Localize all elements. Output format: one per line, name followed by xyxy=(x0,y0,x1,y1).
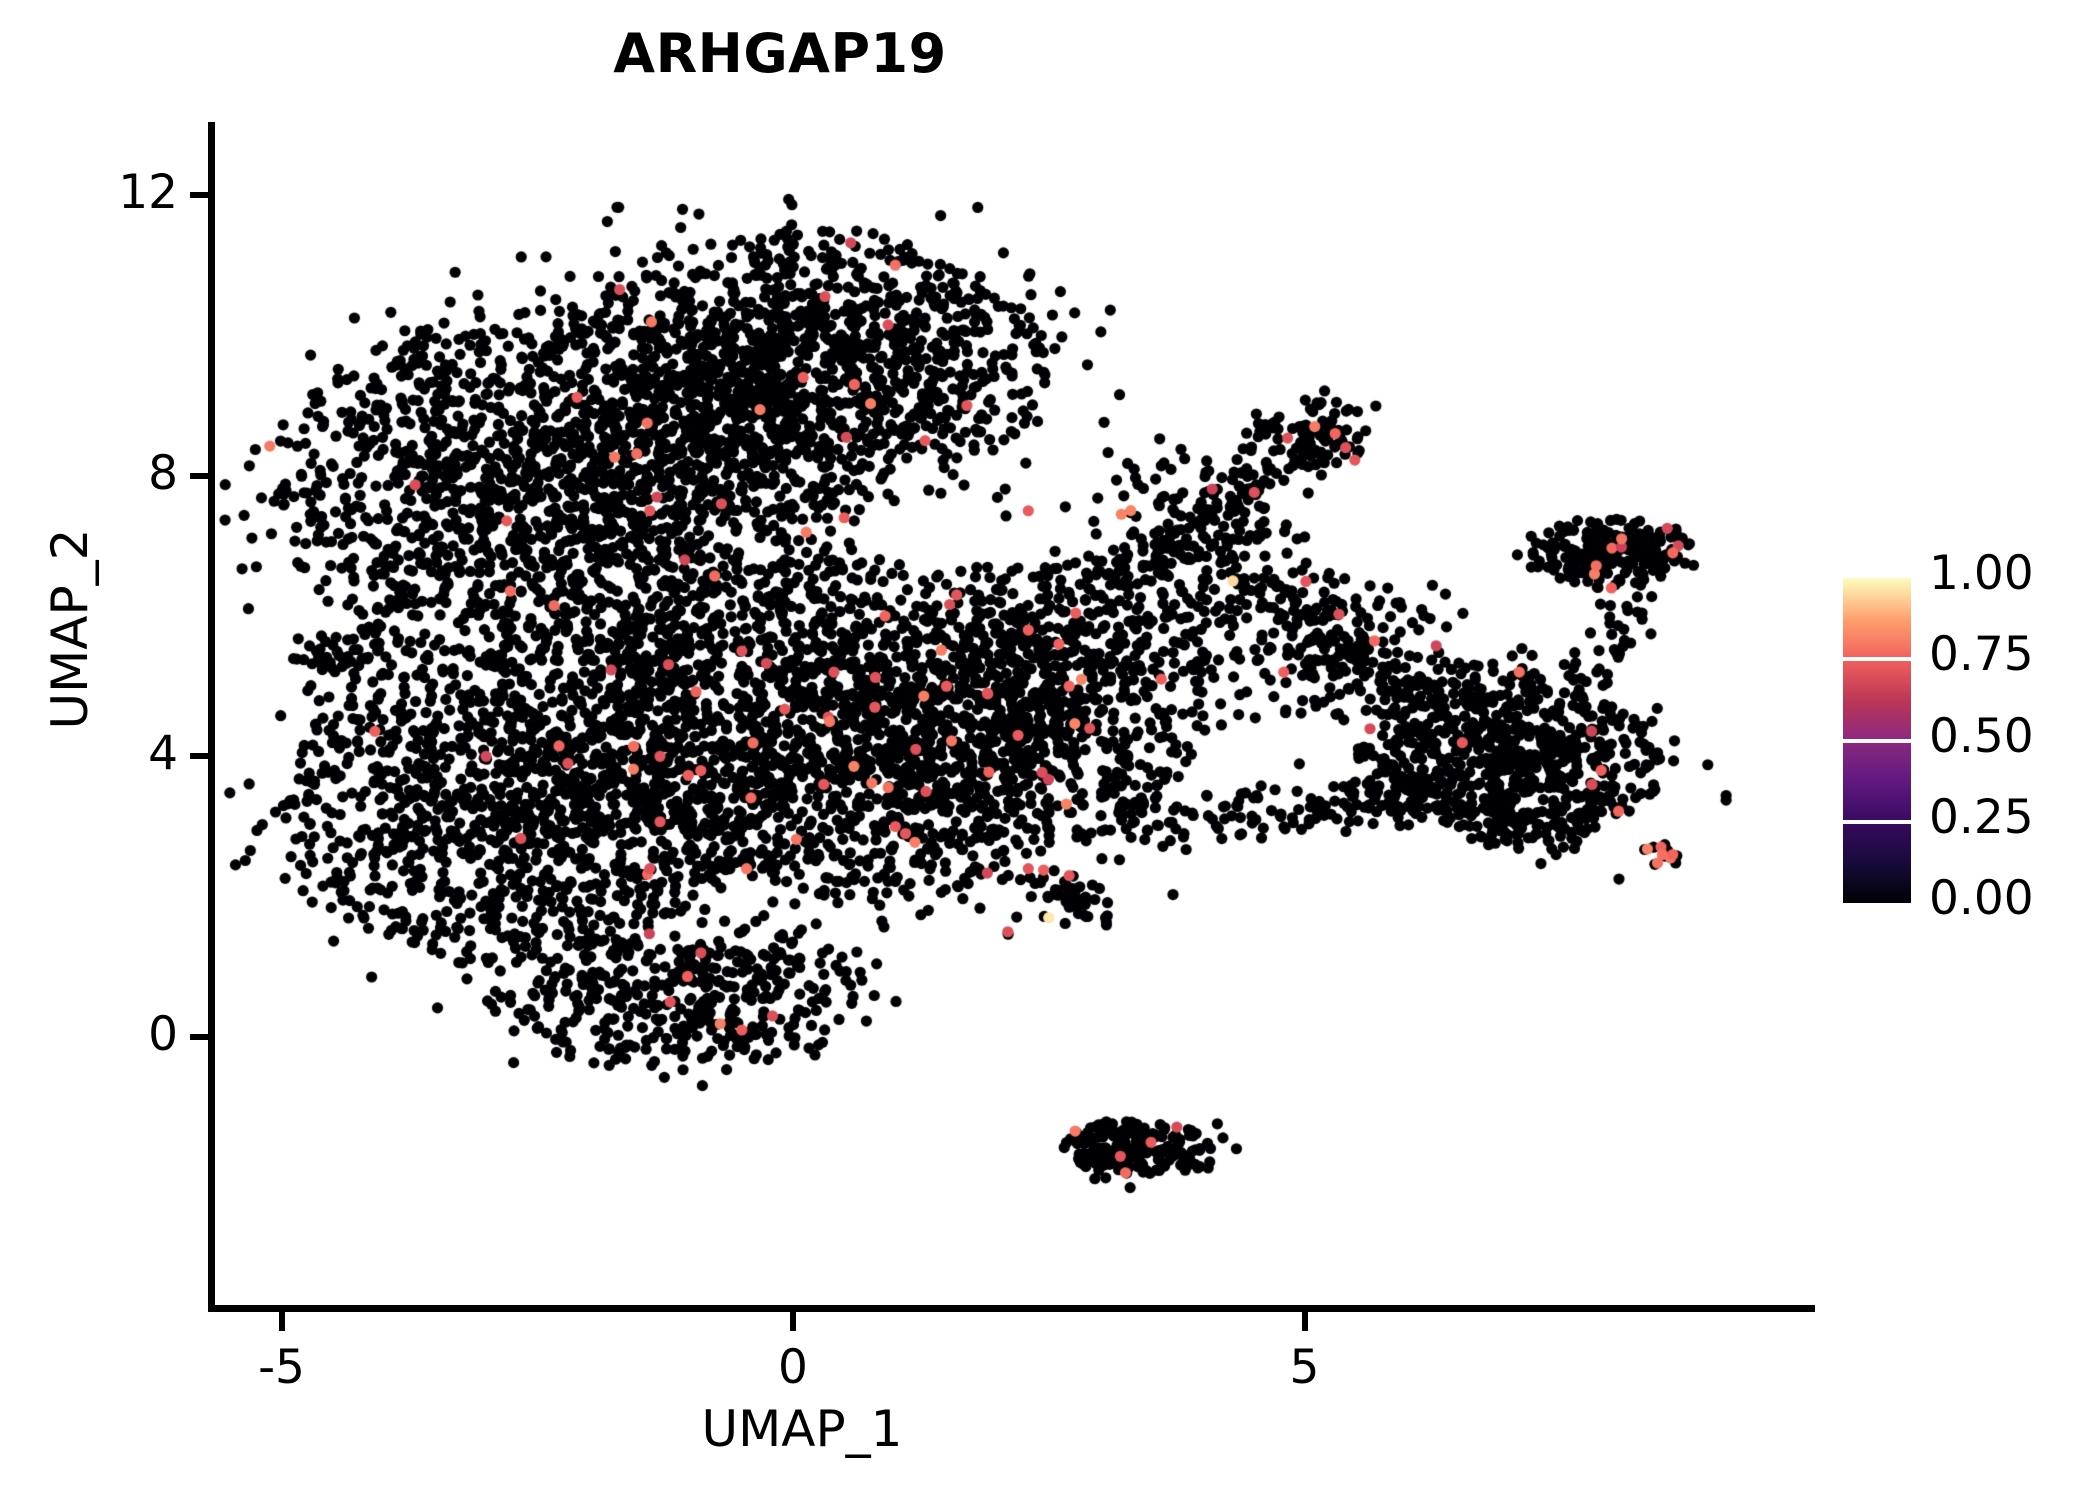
colorbar-tick-mark xyxy=(1843,820,1911,824)
colorbar-tick-label: 0.00 xyxy=(1929,875,2099,922)
y-tick-mark xyxy=(190,473,209,479)
y-tick-mark xyxy=(190,1034,209,1040)
colorbar-tick-mark xyxy=(1843,657,1911,661)
colorbar-tick-label: 0.25 xyxy=(1929,794,2099,841)
colorbar-tick-mark xyxy=(1843,739,1911,743)
x-tick-label: -5 xyxy=(202,1340,362,1395)
y-tick-label: 0 xyxy=(18,1007,178,1062)
colorbar-tick-label: 0.75 xyxy=(1929,631,2099,678)
page-title: ARHGAP19 xyxy=(0,22,1560,85)
colorbar: 1.000.750.500.250.00 xyxy=(1843,578,2093,908)
scatter-plot-canvas xyxy=(212,122,1812,1308)
colorbar-tick-label: 0.50 xyxy=(1929,713,2099,760)
x-tick-mark xyxy=(1302,1312,1308,1331)
x-tick-label: 5 xyxy=(1225,1340,1385,1395)
umap-feature-plot-figure: ARHGAP19 04812-505 UMAP_1 UMAP_2 1.000.7… xyxy=(0,0,2100,1500)
y-tick-mark xyxy=(190,753,209,759)
x-axis-title: UMAP_1 xyxy=(212,1400,1392,1458)
y-tick-label: 12 xyxy=(18,165,178,220)
y-axis-spine xyxy=(208,122,215,1312)
y-axis-title: UMAP_2 xyxy=(41,329,99,929)
y-tick-mark xyxy=(190,192,209,198)
x-tick-mark xyxy=(279,1312,285,1331)
colorbar-tick-label: 1.00 xyxy=(1929,550,2099,597)
x-tick-label: 0 xyxy=(713,1340,873,1395)
x-axis-spine xyxy=(208,1305,1815,1312)
x-tick-mark xyxy=(790,1312,796,1331)
